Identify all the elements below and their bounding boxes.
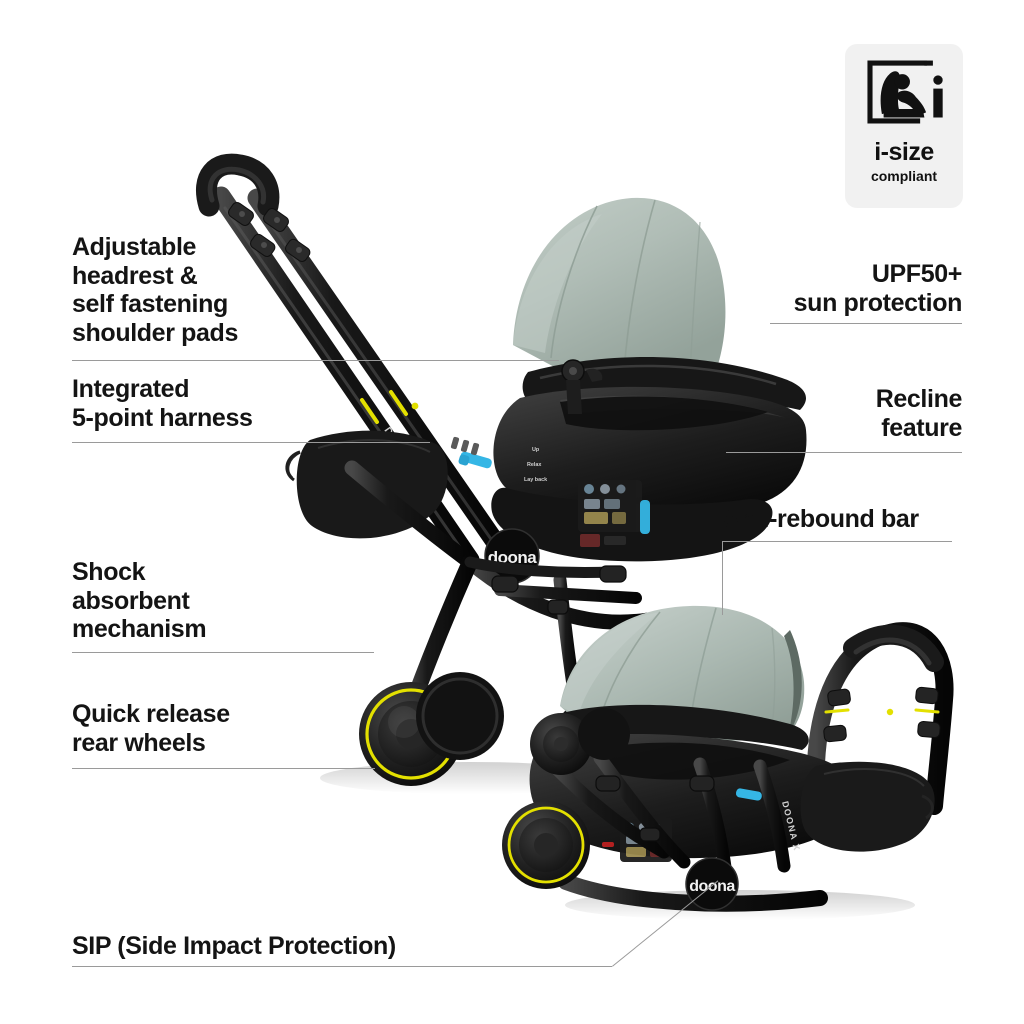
i-size-compliant-badge: i-size compliant [845,44,963,208]
callout-upf-sun-protection: UPF50+ sun protection [642,260,962,317]
leader-line-recline [726,452,962,453]
infographic-canvas: DOONA X [0,0,1024,1024]
svg-text:doona: doona [689,878,735,895]
callout-anti-rebound-bar: Anti-rebound bar [722,505,982,534]
rear-wheel-folded [502,801,590,889]
child-car-seat-icon [861,58,947,126]
leader-line-sip-horizontal [72,966,612,967]
badge-title: i-size [874,138,934,167]
callout-integrated-harness: Integrated 5-point harness [72,375,372,432]
svg-text:Relax: Relax [527,462,541,468]
svg-text:Up: Up [532,447,540,453]
callout-adjustable-headrest: Adjustable headrest & self fastening sho… [72,233,352,347]
callout-side-impact-protection: SIP (Side Impact Protection) [72,932,552,961]
svg-text:Lay back: Lay back [524,477,547,483]
callout-shock-absorbent: Shock absorbent mechanism [72,558,332,644]
badge-subtitle: compliant [871,168,937,184]
leader-line-anti-rebound-vertical [722,541,723,615]
leader-line-adjustable-headrest [72,360,559,361]
leader-line-upf [770,323,962,324]
leader-line-shock-absorbent [72,652,374,653]
leader-line-quick-release [72,768,375,769]
callout-recline-feature: Recline feature [642,385,962,442]
leader-line-integrated-harness [72,442,430,443]
callout-quick-release-wheels: Quick release rear wheels [72,700,352,757]
leader-line-anti-rebound-horizontal [722,541,952,542]
